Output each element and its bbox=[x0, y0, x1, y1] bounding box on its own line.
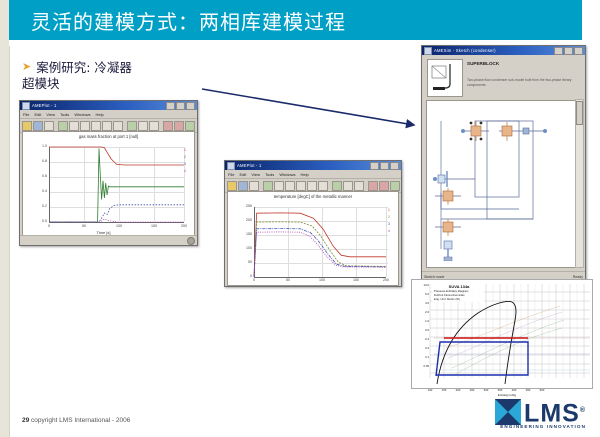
menu-item-edit[interactable]: Edit bbox=[34, 112, 41, 117]
window-2-title: AMEPlot - 1 bbox=[237, 163, 368, 168]
chart-1-series-4 bbox=[49, 219, 184, 222]
axis-icon[interactable] bbox=[102, 121, 112, 131]
chart-1-legend-item-2: 2 bbox=[184, 155, 193, 159]
menu-item-tools[interactable]: Tools bbox=[265, 172, 274, 177]
mollier-ytick-2: 0.2 bbox=[413, 346, 429, 350]
sketch-diagram bbox=[427, 101, 577, 261]
menu-item-file[interactable]: File bbox=[23, 112, 29, 117]
minimize-icon[interactable] bbox=[166, 102, 175, 110]
chart-2-series-4 bbox=[254, 232, 386, 277]
chart-2-legend-item-4: 4 bbox=[388, 229, 397, 233]
save-icon[interactable] bbox=[238, 181, 248, 191]
mollier-credits-2: Eng. Unit: Metric (SI) bbox=[434, 297, 486, 301]
amesim-sketch-window[interactable]: AMESim - Sketch (condenser) SUPERBLOCK T… bbox=[421, 45, 586, 282]
pipe-node bbox=[499, 122, 547, 141]
print-icon[interactable] bbox=[44, 121, 54, 131]
pan-icon[interactable] bbox=[318, 181, 328, 191]
window-icon bbox=[424, 47, 432, 55]
ruler-icon[interactable] bbox=[149, 121, 159, 131]
mollier-xtick-6: 400 bbox=[507, 388, 521, 392]
toolbar-separator bbox=[260, 182, 262, 190]
toolbar-separator-2 bbox=[124, 122, 126, 130]
window-1-plot-canvas[interactable]: gas mass fraction at port 1 [null] 1.0 0… bbox=[22, 131, 195, 236]
left-edge-divider bbox=[9, 46, 10, 437]
window-1-statusbar bbox=[20, 235, 197, 245]
sketch-header-title: SUPERBLOCK bbox=[467, 61, 499, 66]
window-icon bbox=[227, 162, 235, 170]
toolbar-separator-3 bbox=[365, 182, 367, 190]
sketch-status-right: Ready bbox=[573, 275, 583, 279]
menu-item-view[interactable]: View bbox=[46, 112, 55, 117]
toolbar-separator-2 bbox=[329, 182, 331, 190]
mollier-xtick-1: 150 bbox=[437, 388, 451, 392]
lms-logo-mark-icon bbox=[495, 399, 521, 425]
mollier-xtick-4: 300 bbox=[479, 388, 493, 392]
sketch-window-title: AMESim - Sketch (condenser) bbox=[434, 48, 552, 53]
zoom-out-icon[interactable] bbox=[69, 121, 79, 131]
export-icon[interactable] bbox=[185, 121, 195, 131]
text-icon[interactable] bbox=[343, 181, 353, 191]
copyright-text: copyright LMS International - 2006 bbox=[31, 417, 130, 424]
mollier-chart[interactable]: SUVA 134a Pressure-Enthalpy Diagram DuPo… bbox=[411, 279, 593, 389]
chart-1-series-1 bbox=[49, 147, 184, 165]
chart-2-legend-item-3: 3 bbox=[388, 222, 397, 226]
slide-root: 灵活的建模方式：两相库建模过程 ➤ 案例研究: 冷凝器 超模块 AMEPlot … bbox=[0, 0, 600, 437]
chart-2-series-3 bbox=[254, 229, 386, 277]
window-2-plot-canvas[interactable]: temperature [degC] of the metallic manne… bbox=[227, 191, 399, 286]
menu-item-windows[interactable]: Windows bbox=[74, 112, 90, 117]
mollier-xtick-7: 450 bbox=[521, 388, 535, 392]
orifice-node bbox=[435, 188, 461, 205]
zoom-in-icon[interactable] bbox=[91, 121, 101, 131]
sketch-vertical-scrollbar[interactable] bbox=[575, 99, 584, 268]
close-icon[interactable] bbox=[186, 102, 195, 110]
mollier-ytick-9: 10.0 bbox=[413, 283, 429, 287]
mollier-ytick-4: 0.6 bbox=[413, 328, 429, 332]
sketch-canvas[interactable] bbox=[426, 100, 577, 268]
grid-icon[interactable] bbox=[174, 121, 184, 131]
sketch-window-controls[interactable] bbox=[554, 47, 583, 55]
pan-icon[interactable] bbox=[113, 121, 123, 131]
open-icon[interactable] bbox=[227, 181, 237, 191]
mollier-xtick-8: 500 bbox=[535, 388, 549, 392]
zoom-window-icon[interactable] bbox=[58, 121, 68, 131]
title-underline bbox=[9, 40, 582, 43]
export-icon[interactable] bbox=[390, 181, 400, 191]
chart-1-legend-item-1: 1 bbox=[184, 148, 193, 152]
sketch-header-description: Two-phase flow condenser sub-model built… bbox=[467, 78, 577, 88]
sketch-vscroll-thumb[interactable] bbox=[576, 101, 583, 125]
menu-item-file[interactable]: File bbox=[228, 172, 234, 177]
menu-item-view[interactable]: View bbox=[251, 172, 260, 177]
chart-2-legend: 1 2 3 4 bbox=[388, 208, 397, 233]
chart-2-legend-item-2: 2 bbox=[388, 215, 397, 219]
zoom-window-icon[interactable] bbox=[263, 181, 273, 191]
bullet-arrow-icon: ➤ bbox=[22, 60, 31, 75]
window-2-controls[interactable] bbox=[370, 162, 399, 170]
mollier-ytick-0: 0.05 bbox=[413, 364, 429, 368]
grid-icon[interactable] bbox=[379, 181, 389, 191]
mollier-ytick-8: 6.0 bbox=[413, 292, 429, 296]
close-icon[interactable] bbox=[390, 162, 399, 170]
window-1-titlebar[interactable]: AMEPlot - 1 bbox=[20, 101, 197, 110]
window-1-controls[interactable] bbox=[166, 102, 195, 110]
curve-icon[interactable] bbox=[332, 181, 342, 191]
legend-icon[interactable] bbox=[368, 181, 378, 191]
mollier-ytick-1: 0.1 bbox=[413, 355, 429, 359]
zoom-out-icon[interactable] bbox=[274, 181, 284, 191]
zoom-in-icon[interactable] bbox=[296, 181, 306, 191]
close-icon[interactable] bbox=[574, 47, 583, 55]
toolbar-separator bbox=[55, 122, 57, 130]
volume-node bbox=[435, 219, 461, 236]
mollier-xtick-3: 250 bbox=[465, 388, 479, 392]
bullet-text-primary: 案例研究: 冷凝器 bbox=[36, 60, 132, 76]
open-icon[interactable] bbox=[22, 121, 32, 131]
ameplot-window-2[interactable]: AMEPlot - 1 File Edit View Tools Windows… bbox=[224, 160, 402, 287]
chart-1-legend-item-4: 4 bbox=[184, 169, 193, 173]
chart-1-series-layer bbox=[23, 132, 194, 235]
axis-icon[interactable] bbox=[307, 181, 317, 191]
sensor-node bbox=[444, 241, 452, 261]
window-2-titlebar[interactable]: AMEPlot - 1 bbox=[225, 161, 401, 170]
curve-icon[interactable] bbox=[127, 121, 137, 131]
maximize-icon[interactable] bbox=[176, 102, 185, 110]
chart-2-series-2 bbox=[254, 222, 386, 277]
ruler-icon[interactable] bbox=[354, 181, 364, 191]
mollier-ytick-6: 2.0 bbox=[413, 310, 429, 314]
ameplot-window-1[interactable]: AMEPlot - 1 File Edit View Tools Windows… bbox=[19, 100, 198, 246]
chart-1-legend-item-3: 3 bbox=[184, 162, 193, 166]
chart-1-legend: 1 2 3 4 bbox=[184, 148, 193, 173]
slide-title-band: 灵活的建模方式：两相库建模过程 bbox=[9, 0, 582, 40]
mollier-ytick-3: 0.4 bbox=[413, 337, 429, 341]
lms-logo-text: LMS® bbox=[524, 398, 586, 426]
menu-item-windows[interactable]: Windows bbox=[279, 172, 295, 177]
sketch-titlebar[interactable]: AMESim - Sketch (condenser) bbox=[422, 46, 585, 55]
status-indicator-icon bbox=[187, 237, 195, 245]
menu-item-help[interactable]: Help bbox=[301, 172, 309, 177]
lms-logo-tagline: ENGINEERING INNOVATION bbox=[500, 424, 586, 429]
window-1-title: AMEPlot - 1 bbox=[32, 103, 164, 108]
menu-item-tools[interactable]: Tools bbox=[60, 112, 69, 117]
zoom-fit-icon[interactable] bbox=[80, 121, 90, 131]
zoom-fit-icon[interactable] bbox=[285, 181, 295, 191]
lms-logo: LMS® bbox=[495, 398, 586, 426]
mollier-xlabel: Enthalpy kJ/kg bbox=[467, 393, 547, 397]
menu-item-edit[interactable]: Edit bbox=[239, 172, 246, 177]
window-2-menubar[interactable]: File Edit View Tools Windows Help bbox=[225, 170, 401, 179]
maximize-icon[interactable] bbox=[380, 162, 389, 170]
left-edge-strip bbox=[0, 0, 9, 437]
sketch-status-left: Sketch mode bbox=[424, 275, 444, 279]
slide-page-number: 29 bbox=[22, 417, 29, 424]
mollier-ytick-5: 1.0 bbox=[413, 319, 429, 323]
page-title: 灵活的建模方式：两相库建模过程 bbox=[31, 6, 346, 35]
minimize-icon[interactable] bbox=[554, 47, 563, 55]
text-icon[interactable] bbox=[138, 121, 148, 131]
lms-logo-registered: ® bbox=[580, 407, 586, 414]
toolbar-separator-3 bbox=[160, 122, 162, 130]
source-node bbox=[433, 171, 447, 187]
mollier-xtick-5: 350 bbox=[493, 388, 507, 392]
mollier-xtick-2: 200 bbox=[451, 388, 465, 392]
chart-2-legend-item-1: 1 bbox=[388, 208, 397, 212]
mollier-ytick-7: 4.0 bbox=[413, 301, 429, 305]
chart-1-series-2 bbox=[49, 149, 184, 223]
minimize-icon[interactable] bbox=[370, 162, 379, 170]
chart-2-series-layer bbox=[228, 192, 398, 285]
mollier-xtick-0: 100 bbox=[423, 388, 437, 392]
pointer-arrow bbox=[195, 80, 430, 140]
print-icon[interactable] bbox=[249, 181, 259, 191]
menu-item-help[interactable]: Help bbox=[96, 112, 104, 117]
window-1-menubar[interactable]: File Edit View Tools Windows Help bbox=[20, 110, 197, 119]
bullet-line-1: ➤ 案例研究: 冷凝器 bbox=[22, 60, 252, 76]
maximize-icon[interactable] bbox=[564, 47, 573, 55]
condenser-thumbnail-icon bbox=[427, 59, 463, 97]
chart-1-series-3 bbox=[49, 205, 184, 222]
sketch-header-panel: SUPERBLOCK Two-phase flow condenser sub-… bbox=[423, 56, 584, 98]
legend-icon[interactable] bbox=[163, 121, 173, 131]
save-icon[interactable] bbox=[33, 121, 43, 131]
window-icon bbox=[22, 102, 30, 110]
